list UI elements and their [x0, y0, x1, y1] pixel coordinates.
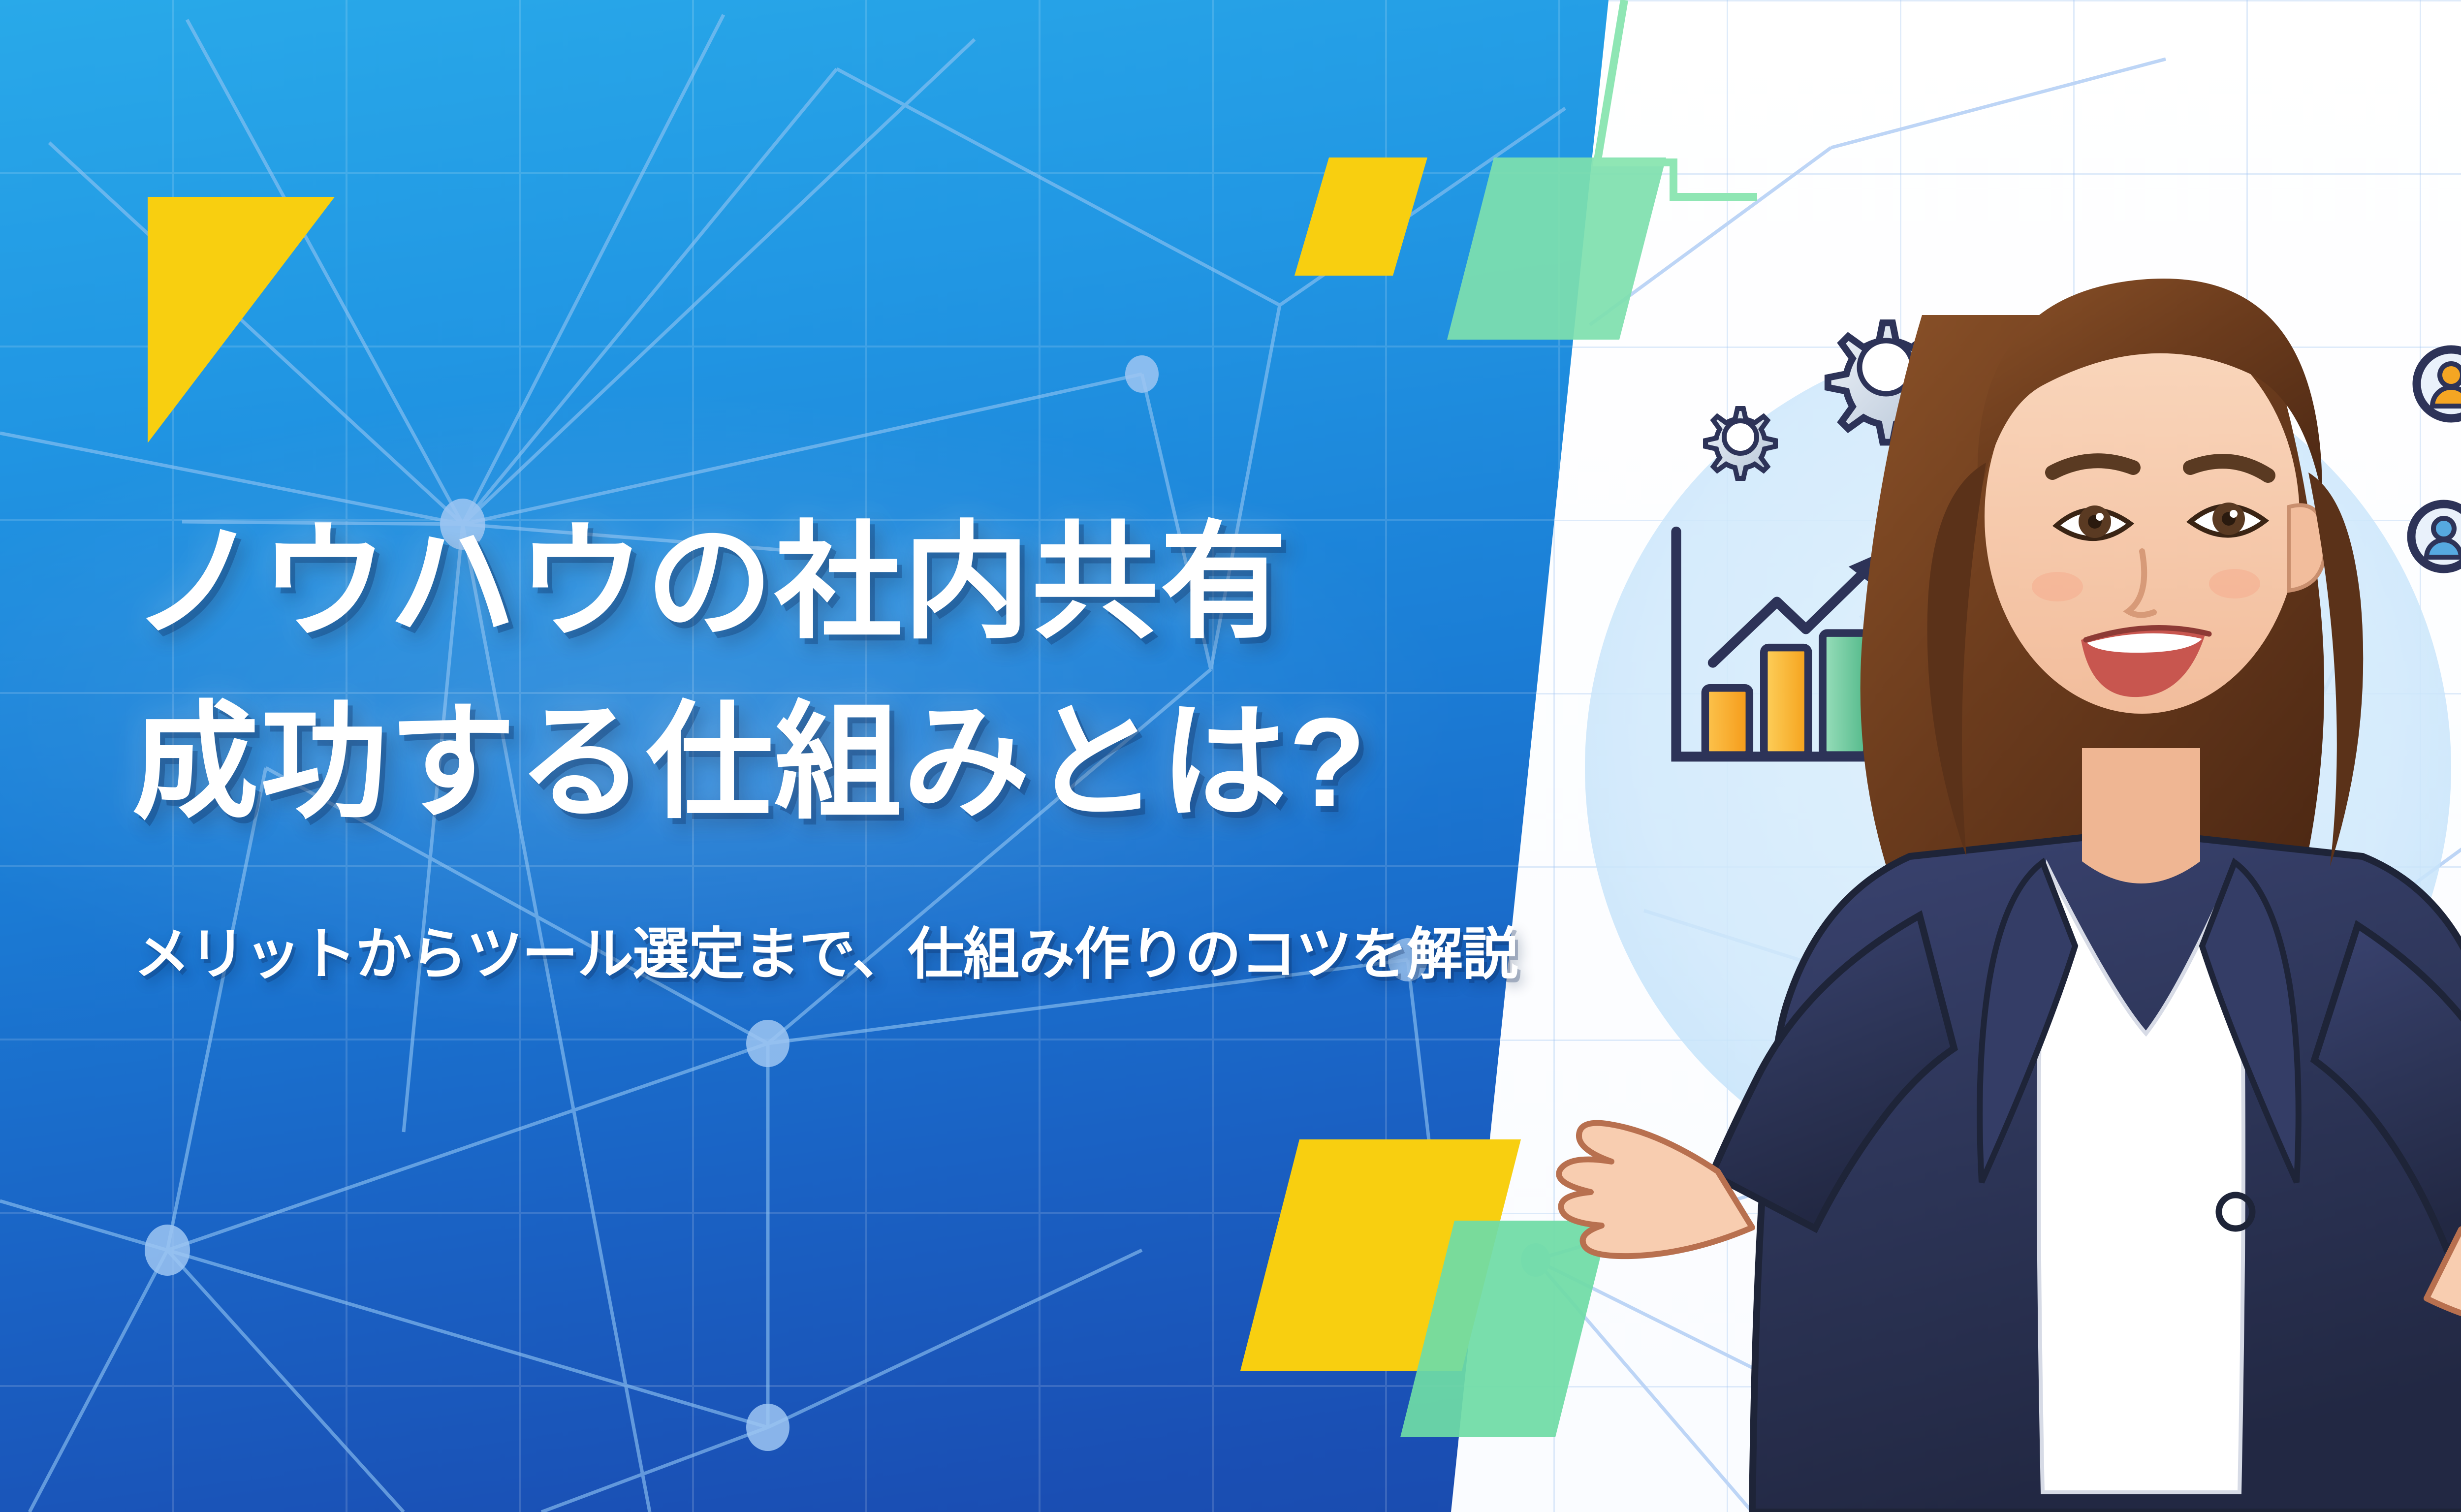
cheek-right: [2209, 569, 2260, 598]
hero-banner: ノウハウの社内共有 成功する仕組みとは? メリットからツール選定まで、仕組み作り…: [0, 0, 2461, 1512]
people-network-icon: [2411, 330, 2461, 569]
illustration-group: [0, 0, 2461, 1512]
gear-small-icon: [1705, 409, 1775, 478]
neck: [2082, 748, 2200, 883]
cheek-left: [2032, 572, 2083, 601]
